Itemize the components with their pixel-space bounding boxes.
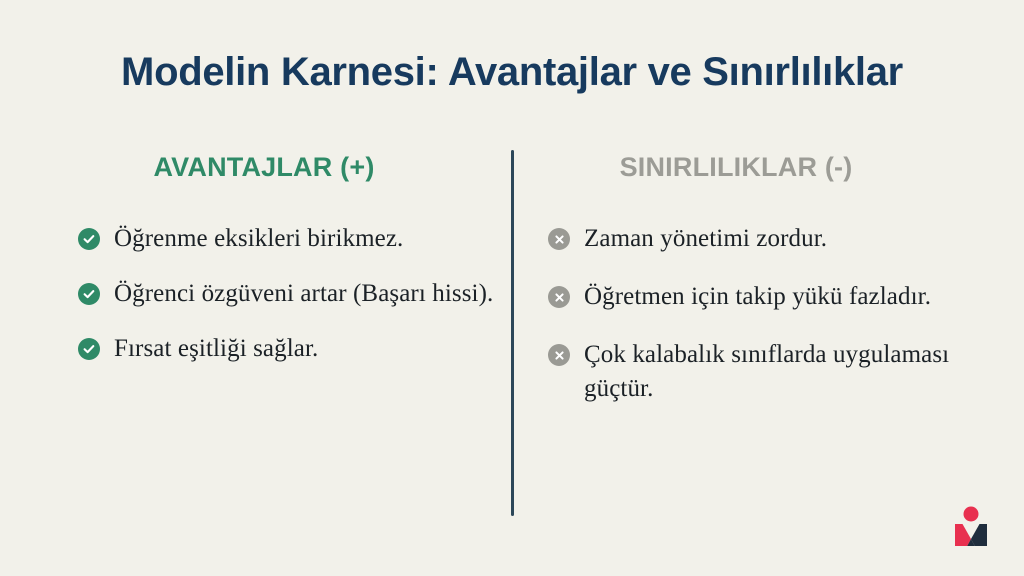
list-item-text: Öğrenci özgüveni artar (Başarı hissi). [114, 277, 493, 310]
list-item: Öğrenme eksikleri birikmez. [78, 222, 498, 255]
check-circle-icon [78, 338, 100, 360]
advantages-heading: AVANTAJLAR (+) [78, 150, 498, 184]
limitations-list: Zaman yönetimi zordur. Öğretmen için tak… [548, 222, 968, 406]
list-item-text: Çok kalabalık sınıflarda uygulaması güçt… [584, 338, 968, 406]
brand-logo-m [942, 498, 1000, 556]
check-circle-icon [78, 283, 100, 305]
advantages-column: AVANTAJLAR (+) Öğrenme eksikleri birikme… [78, 150, 498, 387]
advantages-list: Öğrenme eksikleri birikmez. Öğrenci özgü… [78, 222, 498, 365]
page-title: Modelin Karnesi: Avantajlar ve Sınırlılı… [0, 48, 1024, 96]
list-item: Öğrenci özgüveni artar (Başarı hissi). [78, 277, 498, 310]
x-circle-icon [548, 228, 570, 250]
list-item-text: Öğretmen için takip yükü fazladır. [584, 280, 931, 314]
list-item-text: Zaman yönetimi zordur. [584, 222, 827, 256]
list-item: Zaman yönetimi zordur. [548, 222, 968, 256]
column-divider [511, 150, 514, 516]
list-item: Çok kalabalık sınıflarda uygulaması güçt… [548, 338, 968, 406]
slide-canvas: Modelin Karnesi: Avantajlar ve Sınırlılı… [0, 0, 1024, 576]
check-circle-icon [78, 228, 100, 250]
limitations-heading: SINIRLILIKLAR (-) [548, 150, 968, 184]
two-column-body: AVANTAJLAR (+) Öğrenme eksikleri birikme… [0, 150, 1024, 520]
list-item: Fırsat eşitliği sağlar. [78, 332, 498, 365]
list-item-text: Fırsat eşitliği sağlar. [114, 332, 318, 365]
limitations-column: SINIRLILIKLAR (-) Zaman yönetimi zordur. [548, 150, 968, 430]
list-item-text: Öğrenme eksikleri birikmez. [114, 222, 403, 255]
list-item: Öğretmen için takip yükü fazladır. [548, 280, 968, 314]
x-circle-icon [548, 344, 570, 366]
x-circle-icon [548, 286, 570, 308]
